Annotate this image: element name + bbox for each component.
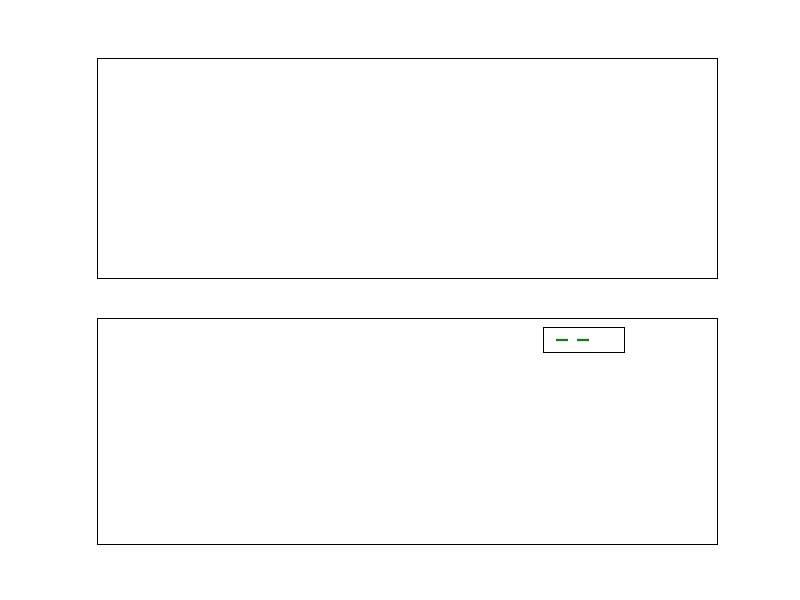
differential-histogram-plot [98, 59, 717, 278]
legend[interactable] [543, 327, 625, 353]
differential-histogram-axes [97, 58, 718, 279]
figure-canvas [0, 0, 800, 600]
mag-limit-line-swatch [554, 334, 600, 346]
